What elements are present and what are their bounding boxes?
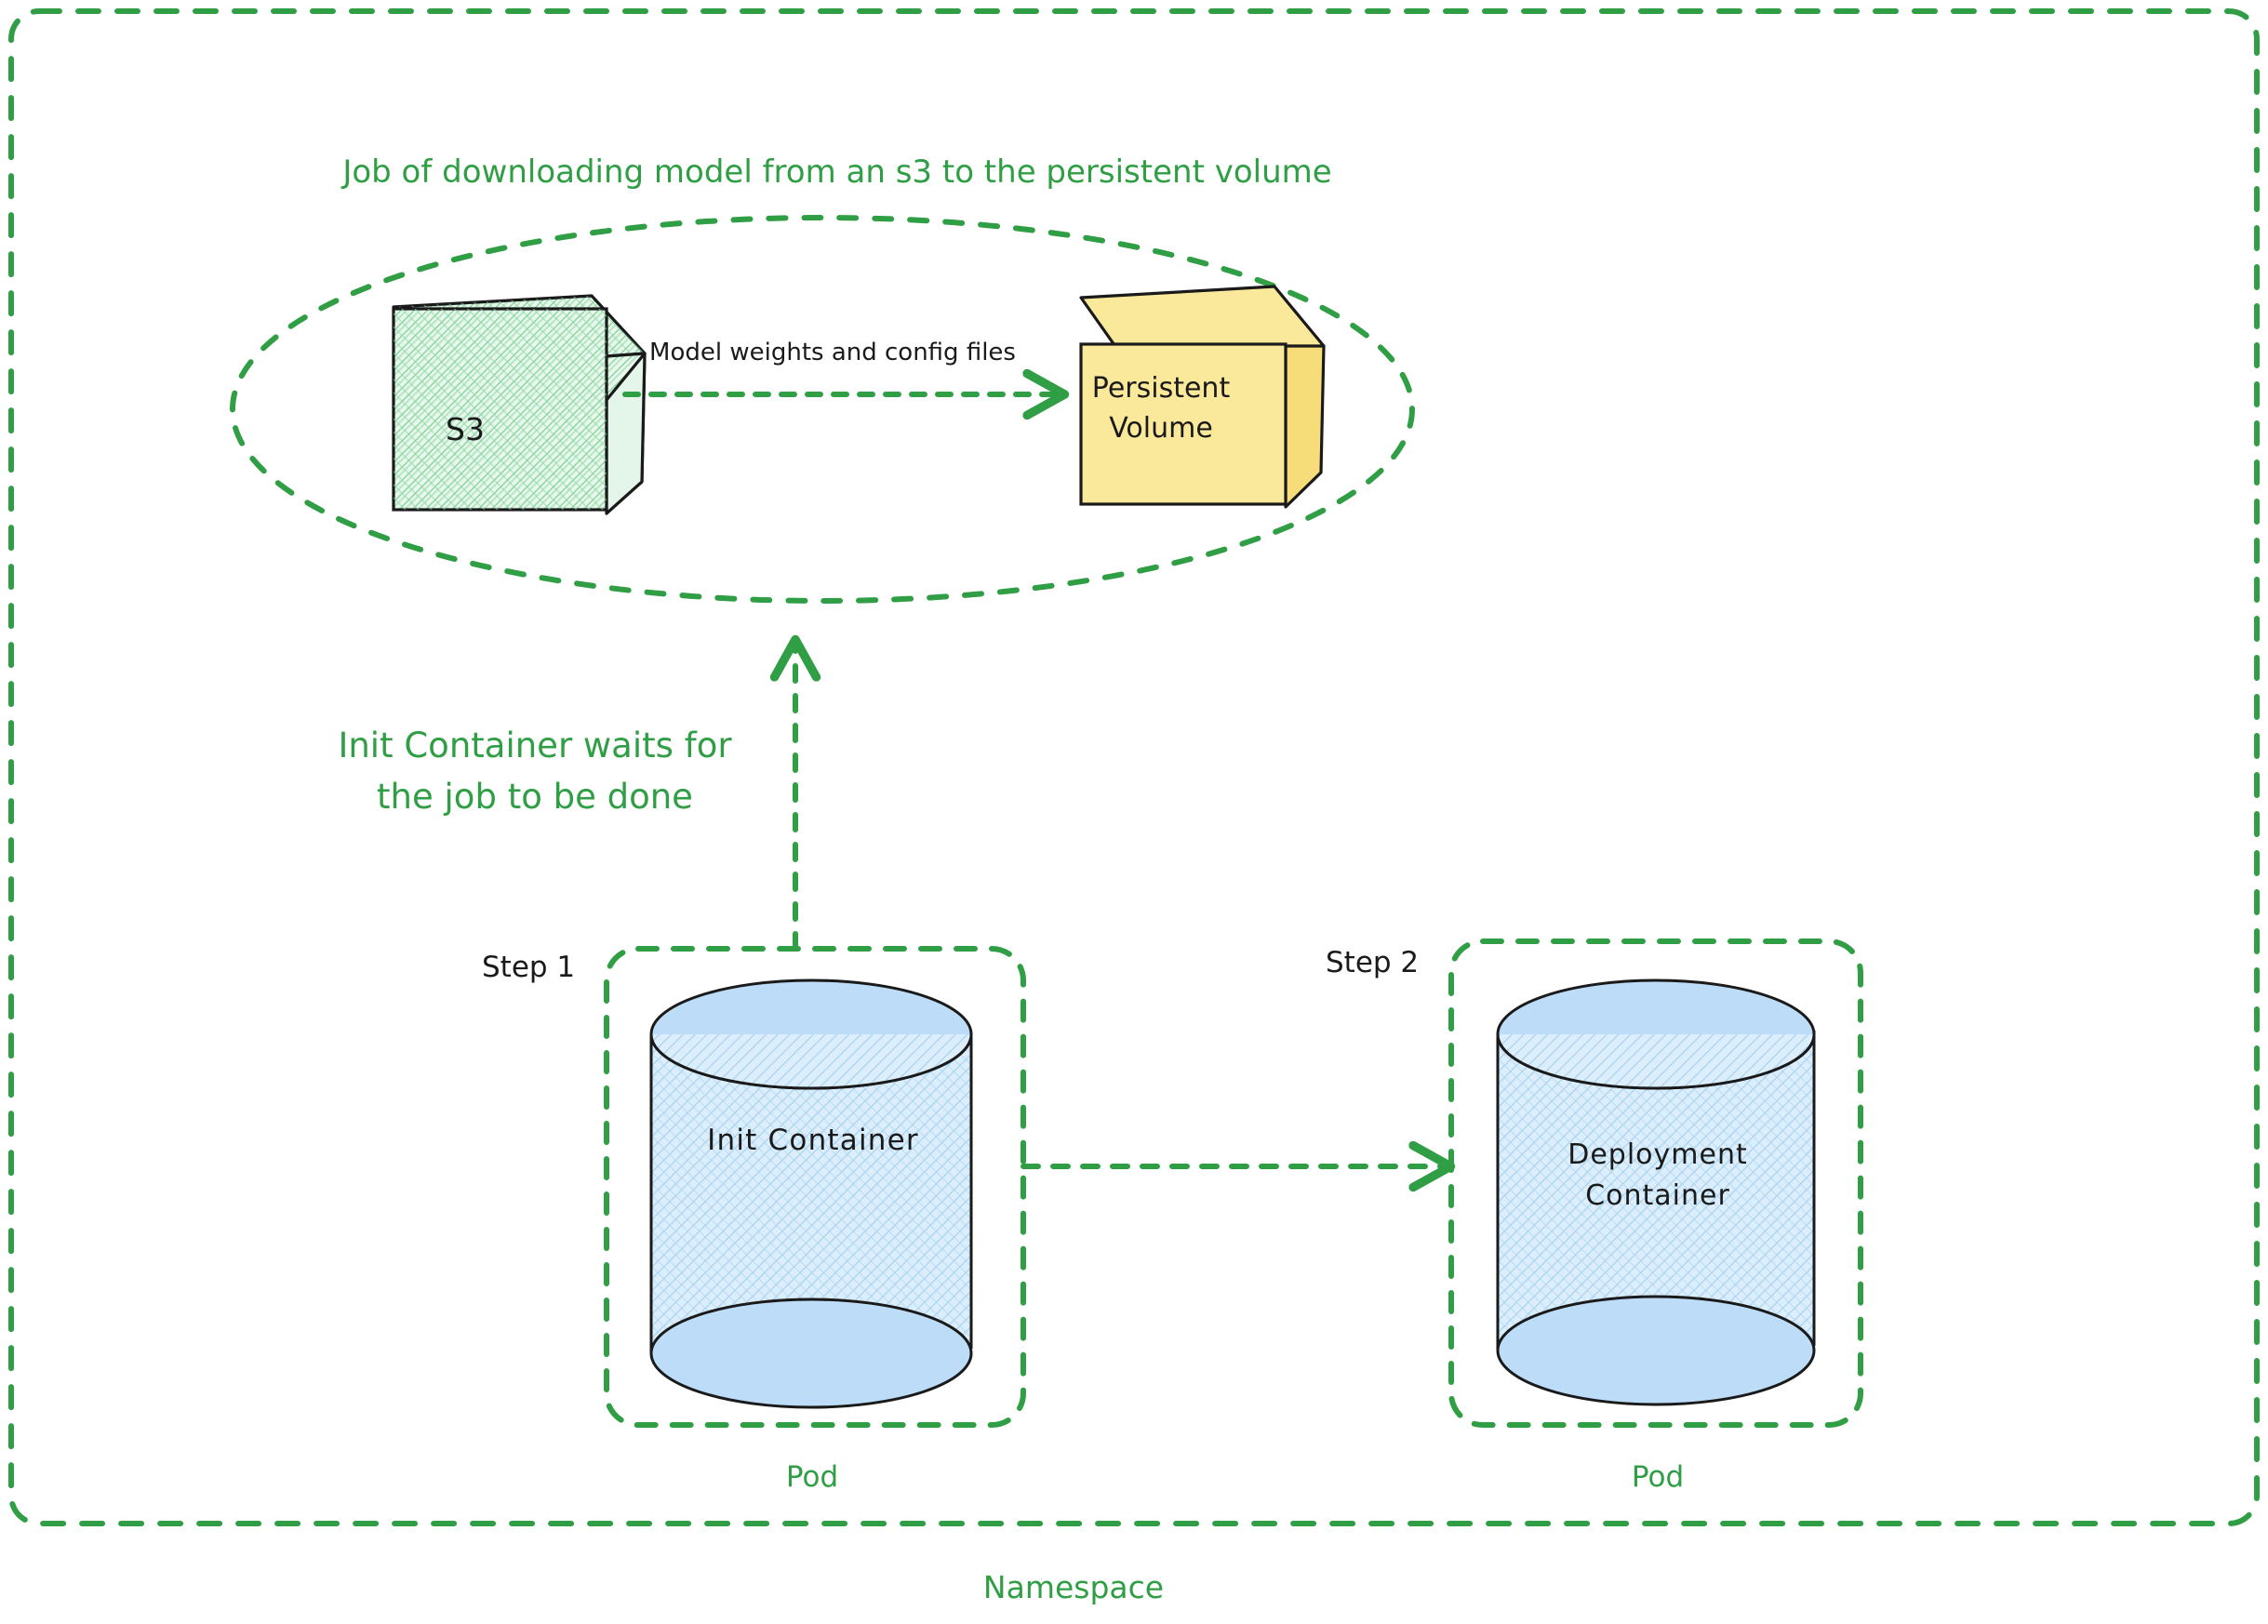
namespace-boundary	[11, 11, 2257, 1524]
init-wait-note-line2: the job to be done	[377, 777, 693, 818]
s3-label: S3	[446, 412, 485, 448]
job-title-note: Job of downloading model from an s3 to t…	[342, 153, 1331, 191]
diagram-vector-layer	[0, 0, 2268, 1624]
deployment-container-label-line2: Container	[1585, 1179, 1730, 1212]
persistent-volume-label-line1: Persistent	[1092, 372, 1230, 405]
persistent-volume-label-line2: Volume	[1109, 412, 1213, 445]
pod1-label: Pod	[786, 1460, 838, 1495]
namespace-label: Namespace	[983, 1570, 1164, 1606]
diagram-canvas: Job of downloading model from an s3 to t…	[0, 0, 2268, 1624]
init-container-cylinder	[651, 980, 971, 1407]
pod2-label: Pod	[1632, 1460, 1684, 1495]
s3-cube	[394, 296, 645, 513]
init-wait-note-line1: Init Container waits for	[338, 725, 731, 766]
init-container-label: Init Container	[707, 1124, 919, 1158]
transfer-arrow-label: Model weights and config files	[649, 339, 1016, 367]
step2-label: Step 2	[1326, 946, 1419, 980]
deployment-container-label-line1: Deployment	[1568, 1138, 1748, 1171]
step1-label: Step 1	[482, 951, 575, 985]
